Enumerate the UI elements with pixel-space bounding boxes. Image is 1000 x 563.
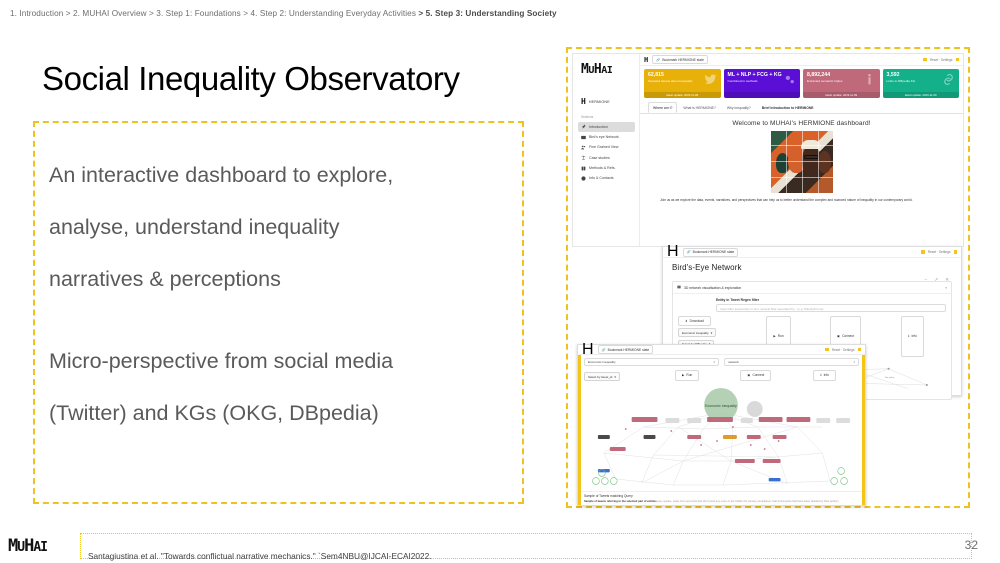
svg-text:Tax policy: Tax policy: [885, 376, 896, 378]
collage-of-faces-illustration: [771, 131, 833, 193]
dashboard-sidebar: MUHAI H HERMIONE Sections Introduction B…: [573, 54, 640, 246]
run-label: Run: [686, 373, 692, 377]
screenshot-frame: MUHAI H HERMIONE Sections Introduction B…: [566, 47, 970, 508]
download-label: Download: [690, 319, 704, 323]
sidebar-item-label: Case studies: [589, 156, 610, 160]
info-button[interactable]: ℹ Info: [901, 316, 924, 357]
center-node-label: Economic inequality: [705, 404, 737, 408]
panel-title: Bird's-Eye Network: [672, 263, 952, 272]
sidebar-item-case-studies[interactable]: Case studies: [578, 153, 635, 163]
muhai-logo: MUHAI: [581, 63, 635, 78]
body-line-4: Micro-perspective from social media: [49, 335, 504, 387]
slide-root: 1. Introduction > 2. MUHAI Overview > 3.…: [0, 0, 1000, 563]
footer-note-bold: Sample of tweets referring to the select…: [584, 500, 657, 503]
entity-filter-label: Economic inequality: [682, 331, 709, 335]
card-header[interactable]: 3D network visualisation & exploration ▾: [673, 282, 951, 294]
sidebar-item-label: Fine Grained View: [589, 145, 619, 149]
welcome-blurb: Join us as we explore the data, events, …: [650, 193, 953, 203]
status-dot-icon: [923, 58, 927, 62]
muhai-footer-logo: MUHAI: [8, 536, 47, 556]
bookmark-label: Bookmark HERMIONE state: [608, 348, 650, 352]
topbar-meta: Reset · Settings: [928, 250, 951, 254]
dashboard3-body: Economic inequality ▾ network ▾ Select b…: [578, 355, 865, 491]
tab-bar: Where am I? What is HERMIONE? Why inequa…: [640, 98, 963, 114]
sidebar-item-label: Info & Contacts: [589, 176, 614, 180]
topbar-right-controls: Reset · Settings: [921, 250, 957, 254]
welcome-title: Welcome to MUHAI's HERMIONE dashboard!: [650, 120, 953, 127]
play-icon: ▶: [682, 373, 684, 377]
footer-note: Sample of tweets referring to the select…: [584, 500, 859, 504]
paragraph-gap: [49, 305, 504, 335]
pin-icon: [581, 124, 586, 129]
breadcrumb: 1. Introduction > 2. MUHAI Overview > 3.…: [10, 9, 557, 18]
breadcrumb-item-3[interactable]: 3. Step 1: Foundations: [156, 9, 241, 18]
plug-icon: ▣: [747, 373, 750, 377]
regex-filter-label: Entity in Tweet Regex filter: [716, 298, 946, 302]
value-box-footer: [724, 92, 801, 99]
body-line-5: (Twitter) and KGs (OKG, DBpedia): [49, 387, 504, 439]
hermione-mark: H: [582, 341, 594, 359]
tab-what-is-hermione[interactable]: What is HERMIONE?: [678, 102, 720, 113]
breadcrumb-item-2[interactable]: 2. MUHAI Overview: [73, 9, 147, 18]
breadcrumb-separator: >: [149, 9, 154, 18]
tweet-id-filter-chip[interactable]: Select by tweet_id ▾: [584, 372, 620, 381]
play-icon: ▶: [773, 334, 775, 338]
connect-button[interactable]: ▣ Connect: [740, 370, 771, 382]
breadcrumb-item-4[interactable]: 4. Step 2: Understanding Everyday Activi…: [251, 9, 417, 18]
accent-bar-right: [862, 355, 865, 505]
body-line-2: analyse, understand inequality: [49, 201, 504, 253]
welcome-panel: Welcome to MUHAI's HERMIONE dashboard! J…: [640, 114, 963, 203]
topic-select-value: Economic inequality: [588, 360, 616, 364]
connect-label: Connect: [752, 373, 764, 377]
tab-brief-introduction[interactable]: Brief introduction to HERMIONE: [757, 102, 819, 113]
sidebar-brand: H HERMIONE: [581, 97, 635, 106]
topbar-right-controls: Reset · Settings: [923, 58, 959, 62]
info-label: Info: [911, 334, 916, 338]
network-icon: [581, 135, 586, 140]
sidebar-item-methods-refs[interactable]: Methods & Refs.: [578, 163, 635, 173]
accent-bar-left: [578, 355, 581, 505]
sidebar-item-fine-grained-view[interactable]: Fine Grained View: [578, 143, 635, 153]
topbar-meta: Reset · Settings: [930, 58, 953, 62]
entity-filter-chip[interactable]: Economic inequality ▾: [678, 328, 716, 337]
card-header-label: 3D network visualisation & exploration: [684, 286, 741, 290]
fine-grained-network-canvas[interactable]: Economic inequality: [584, 383, 859, 491]
status-dot-icon: [825, 348, 829, 352]
sidebar-item-introduction[interactable]: Introduction: [578, 122, 635, 132]
info-icon: ℹ: [908, 334, 909, 338]
twitter-bird-icon: [704, 73, 717, 89]
value-box-row: 62,815 Sampled tweets about inequality l…: [640, 66, 963, 98]
download-icon: ⬇: [685, 319, 688, 323]
link-icon: 🔗: [687, 250, 691, 254]
topbar-meta: Reset · Settings: [832, 348, 855, 352]
body-line-1: An interactive dashboard to explore,: [49, 149, 504, 201]
body-line-3: narratives & perceptions: [49, 253, 504, 305]
bookmark-label: Bookmark HERMIONE state: [693, 250, 735, 254]
value-box-dbpedia-links[interactable]: 3,592 Links to DBpedia KG latest update:…: [883, 69, 960, 98]
sidebar-item-birds-eye-network[interactable]: Bird's eye Network: [578, 132, 635, 142]
bookmark-label: Bookmark HERMIONE state: [662, 58, 704, 62]
tab-why-inequality[interactable]: Why inequality?: [722, 102, 756, 113]
info-icon: ℹ: [820, 373, 821, 377]
tweet-id-filter-label: Select by tweet_id: [588, 375, 612, 379]
sidebar-item-info-contacts[interactable]: Info & Contacts: [578, 173, 635, 183]
tab-where-am-i[interactable]: Where am I?: [648, 102, 677, 113]
plug-icon: ▣: [837, 334, 840, 338]
link-icon: 🔗: [656, 58, 660, 62]
info-label: Info: [824, 373, 829, 377]
tweet-sample-footer: Sample of Tweets matching Query Sample o…: [578, 491, 865, 503]
sidebar-section-label: Sections: [581, 115, 635, 119]
connect-label: Connect: [842, 334, 854, 338]
regex-filter-input[interactable]: Insert filter keyword(s) or text, severa…: [716, 304, 946, 312]
dashboard-overview-window: MUHAI H HERMIONE Sections Introduction B…: [572, 53, 964, 247]
topic-select[interactable]: Economic inequality ▾: [584, 358, 719, 366]
breadcrumb-item-1[interactable]: 1. Introduction: [10, 9, 63, 18]
select-row: Economic inequality ▾ network ▾: [584, 358, 859, 366]
sidebar-item-label: Introduction: [589, 125, 608, 129]
dashboard-main: H 🔗 Bookmark HERMIONE state Reset · Sett…: [640, 54, 963, 246]
view-select-value: network: [728, 360, 739, 364]
breadcrumb-item-current: 5. Step 3: Understanding Society: [426, 9, 557, 18]
page-title: Social Inequality Observatory: [42, 60, 460, 98]
footer-note-muted: (any quotes, posts from accounts that do…: [657, 500, 838, 503]
run-button[interactable]: ▶ Run: [675, 370, 699, 382]
value-box-triples[interactable]: 8,892,244 Extracted semantic triples lat…: [803, 69, 880, 98]
status-dot-icon: [921, 250, 925, 254]
chain-link-icon: [942, 73, 955, 89]
run-label: Run: [778, 334, 784, 338]
breadcrumb-separator-current: >: [418, 9, 423, 18]
action-button-row: Select by tweet_id ▾ ▶ Run ▣ Conne: [584, 370, 859, 382]
topbar-right-controls: Reset · Settings: [825, 348, 861, 352]
info-button[interactable]: ℹ Info: [813, 370, 836, 382]
balance-icon: [581, 155, 586, 160]
value-box-tweets[interactable]: 62,815 Sampled tweets about inequality l…: [644, 69, 721, 98]
value-box-footer: latest update: 2023-11-09: [644, 92, 721, 99]
status-dot-icon: [858, 348, 862, 352]
footer-title: Sample of Tweets matching Query: [584, 494, 859, 498]
view-select[interactable]: network ▾: [724, 358, 859, 366]
info-icon: [581, 176, 586, 181]
breadcrumb-separator: >: [243, 9, 248, 18]
hermione-mark: H: [581, 97, 586, 106]
dashboard2-topbar: H 🔗 Bookmark HERMIONE state Reset · Sett…: [663, 247, 961, 258]
chevron-down-icon: ▾: [853, 360, 855, 364]
sidebar-item-label: Methods & Refs.: [589, 166, 616, 170]
window-controls[interactable]: – ↗ ✕: [924, 277, 952, 283]
bookmark-state-button[interactable]: 🔗 Bookmark HERMIONE state: [683, 248, 739, 257]
link-icon: 🔗: [602, 348, 606, 352]
value-box-footer: latest update: 2023-11-09: [803, 92, 880, 99]
chevron-down-icon: ▾: [713, 360, 715, 364]
status-dot-icon: [954, 250, 958, 254]
dashboard-topbar: H 🔗 Bookmark HERMIONE state Reset · Sett…: [640, 54, 963, 66]
book-icon: [581, 166, 586, 171]
people-icon: [581, 145, 586, 150]
info-i-icon: [863, 73, 876, 89]
breadcrumb-separator: >: [66, 9, 71, 18]
chevron-down-icon: ▾: [711, 331, 713, 335]
hermione-label: HERMIONE: [589, 100, 610, 104]
dashboard3-topbar: H 🔗 Bookmark HERMIONE state Reset · Sett…: [578, 345, 865, 355]
network-icon: [677, 285, 681, 290]
fine-grained-network-window: H 🔗 Bookmark HERMIONE state Reset · Sett…: [577, 344, 866, 506]
footer-citation: Santagiustina et al. "Towards conflictua…: [88, 551, 432, 561]
value-box-footer: latest update: 2023-11-09: [883, 92, 960, 99]
download-button[interactable]: ⬇ Download: [678, 316, 711, 326]
bookmark-state-button[interactable]: 🔗 Bookmark HERMIONE state: [652, 55, 708, 64]
value-box-methods[interactable]: ML + NLP + FCG + KG Combined in methods: [724, 69, 801, 98]
sidebar-item-label: Bird's eye Network: [589, 135, 619, 139]
highlight-text-box: An interactive dashboard to explore, ana…: [33, 121, 524, 504]
chevron-down-icon: ▾: [614, 375, 616, 379]
gears-icon: [783, 73, 796, 89]
hermione-mark: H: [644, 56, 648, 64]
page-number: 32: [965, 538, 978, 552]
chevron-down-icon[interactable]: ▾: [945, 286, 947, 290]
bookmark-state-button[interactable]: 🔗 Bookmark HERMIONE state: [598, 345, 654, 354]
status-dot-icon: [956, 58, 960, 62]
